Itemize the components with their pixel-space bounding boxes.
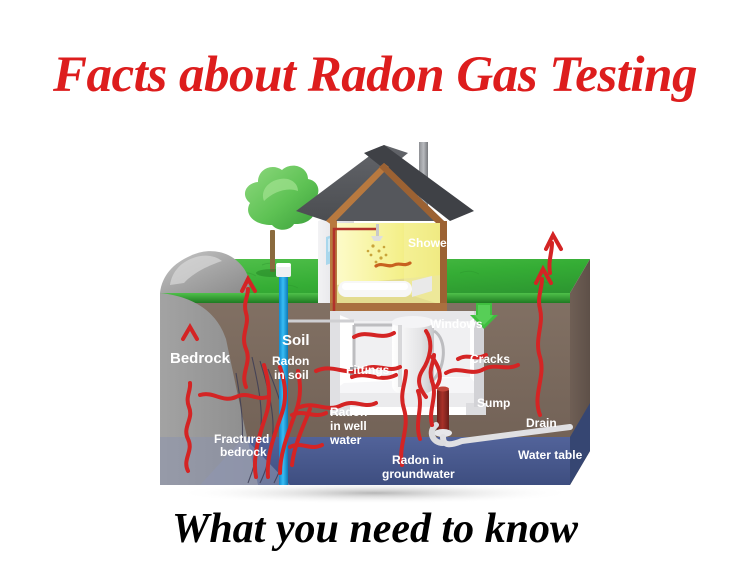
- radon-diagram: Bedrock Soil Radon in soil Fractured bed…: [140, 125, 590, 505]
- label-radon-well-line2: in well: [330, 419, 367, 433]
- label-cracks: Cracks: [470, 352, 510, 366]
- label-radon-in-soil-line1: Radon: [272, 354, 309, 368]
- label-fittings: Fittings: [346, 363, 390, 377]
- poster-canvas: Facts about Radon Gas Testing: [0, 0, 750, 563]
- label-sump: Sump: [477, 396, 510, 410]
- label-fractured-bedrock-line1: Fractured: [214, 432, 269, 446]
- label-radon-groundwater-line1: Radon in: [392, 453, 443, 467]
- page-subtitle: What you need to know: [0, 505, 750, 553]
- house-post-right: [440, 221, 447, 309]
- label-fractured-bedrock-line2: bedrock: [220, 445, 267, 459]
- tree-trunk: [270, 230, 275, 272]
- label-radon-well-line3: water: [329, 433, 362, 447]
- tree-foliage: [245, 166, 318, 230]
- label-bedrock: Bedrock: [170, 350, 231, 367]
- basement-wall-left: [330, 311, 340, 407]
- ground-shadow: [175, 482, 575, 504]
- well-cap-top: [276, 263, 291, 267]
- page-title: Facts about Radon Gas Testing: [0, 47, 750, 103]
- house-sill: [330, 303, 447, 311]
- label-shower: Shower: [408, 236, 452, 250]
- label-radon-in-soil-line2: in soil: [274, 368, 309, 382]
- label-windows: Windows: [430, 317, 483, 331]
- label-radon-well-line1: Radon: [330, 405, 367, 419]
- label-drain: Drain: [526, 416, 557, 430]
- label-radon-groundwater-line2: groundwater: [382, 467, 455, 481]
- label-water-table: Water table: [518, 448, 583, 462]
- label-soil: Soil: [282, 332, 310, 349]
